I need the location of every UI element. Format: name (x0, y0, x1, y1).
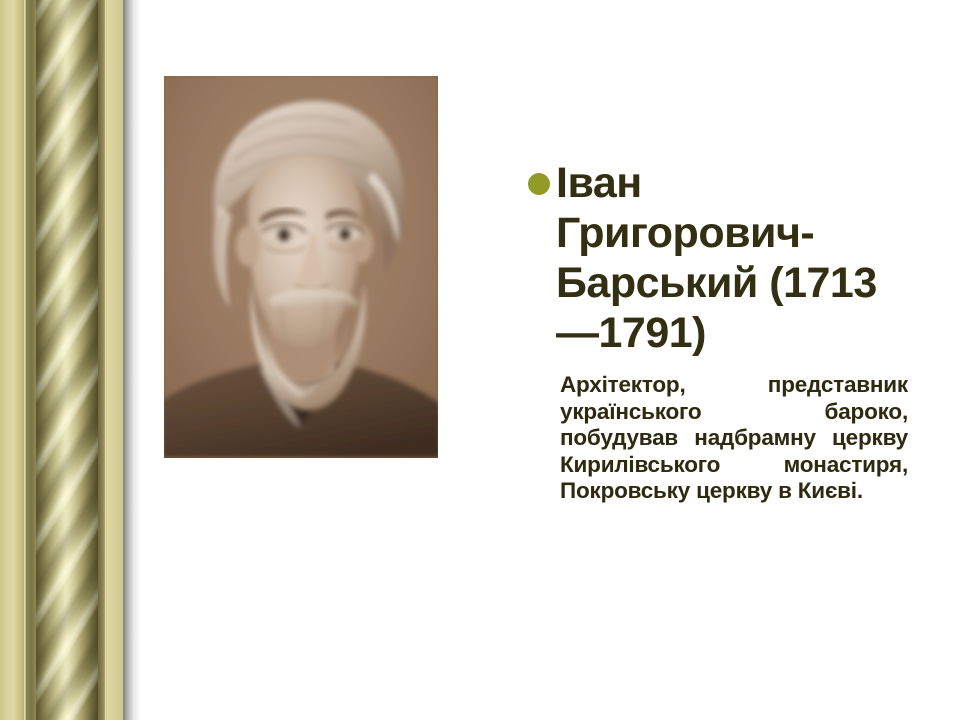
text-column: Іван Григорович-Барський (1713—1791) Арх… (528, 158, 908, 505)
portrait-illustration (164, 76, 438, 458)
border-twisted-column (36, 0, 98, 720)
border-recess-left (26, 0, 36, 720)
border-column-shading (36, 0, 98, 720)
border-flat-strip-left (0, 0, 24, 720)
portrait-photo (164, 76, 438, 458)
bullet-point-icon (528, 173, 550, 195)
slide-canvas: Іван Григорович-Барський (1713—1791) Арх… (0, 0, 960, 720)
page-title: Іван Григорович-Барський (1713—1791) (556, 158, 908, 358)
border-flat-strip-right (107, 0, 123, 720)
description-text: Архітектор, представник українського бар… (560, 372, 908, 505)
border-recess-right (98, 0, 105, 720)
decorative-left-border (0, 0, 141, 720)
title-row: Іван Григорович-Барський (1713—1791) (528, 158, 908, 358)
border-drop-shadow (123, 0, 141, 720)
